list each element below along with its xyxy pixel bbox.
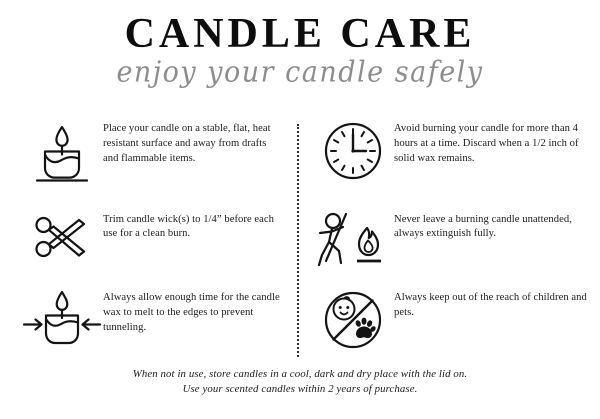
clock-icon xyxy=(311,120,394,182)
tips-column-right: Avoid burning your candle for more than … xyxy=(297,116,600,360)
candle-jar-on-surface-icon xyxy=(20,120,103,186)
person-walking-away-from-fire-icon xyxy=(311,211,394,271)
candle-care-card: CANDLE CARE enjoy your candle safely xyxy=(0,0,600,419)
tip-item: Always keep out of the reach of children… xyxy=(297,287,600,360)
footer-line-2: Use your scented candles within 2 years … xyxy=(0,382,600,397)
tip-item: Always allow enough time for the candle … xyxy=(0,287,297,360)
tip-text: Always allow enough time for the candle … xyxy=(103,289,283,336)
column-divider xyxy=(297,124,299,357)
candle-jar-tunneling-arrows-icon xyxy=(20,289,103,351)
footer-note: When not in use, store candles in a cool… xyxy=(0,367,600,397)
tip-item: Avoid burning your candle for more than … xyxy=(297,116,600,207)
tips-container: Place your candle on a stable, flat, hea… xyxy=(0,116,600,360)
tip-item: Never leave a burning candle unattended,… xyxy=(297,207,600,288)
tip-text: Always keep out of the reach of children… xyxy=(394,289,590,321)
tip-text: Trim candle wick(s) to 1/4” before each … xyxy=(103,211,283,243)
tip-text: Avoid burning your candle for more than … xyxy=(394,120,590,167)
tip-item: Trim candle wick(s) to 1/4” before each … xyxy=(0,207,297,288)
footer-line-1: When not in use, store candles in a cool… xyxy=(0,367,600,382)
page-subtitle: enjoy your candle safely xyxy=(0,56,600,91)
tip-text: Place your candle on a stable, flat, hea… xyxy=(103,120,283,167)
scissors-icon xyxy=(20,211,103,267)
tip-item: Place your candle on a stable, flat, hea… xyxy=(0,116,297,207)
page-title: CANDLE CARE xyxy=(0,13,600,55)
no-children-or-pets-icon xyxy=(311,289,394,351)
tips-column-left: Place your candle on a stable, flat, hea… xyxy=(0,116,297,360)
card-header: CANDLE CARE enjoy your candle safely xyxy=(0,0,600,89)
tip-text: Never leave a burning candle unattended,… xyxy=(394,211,590,243)
